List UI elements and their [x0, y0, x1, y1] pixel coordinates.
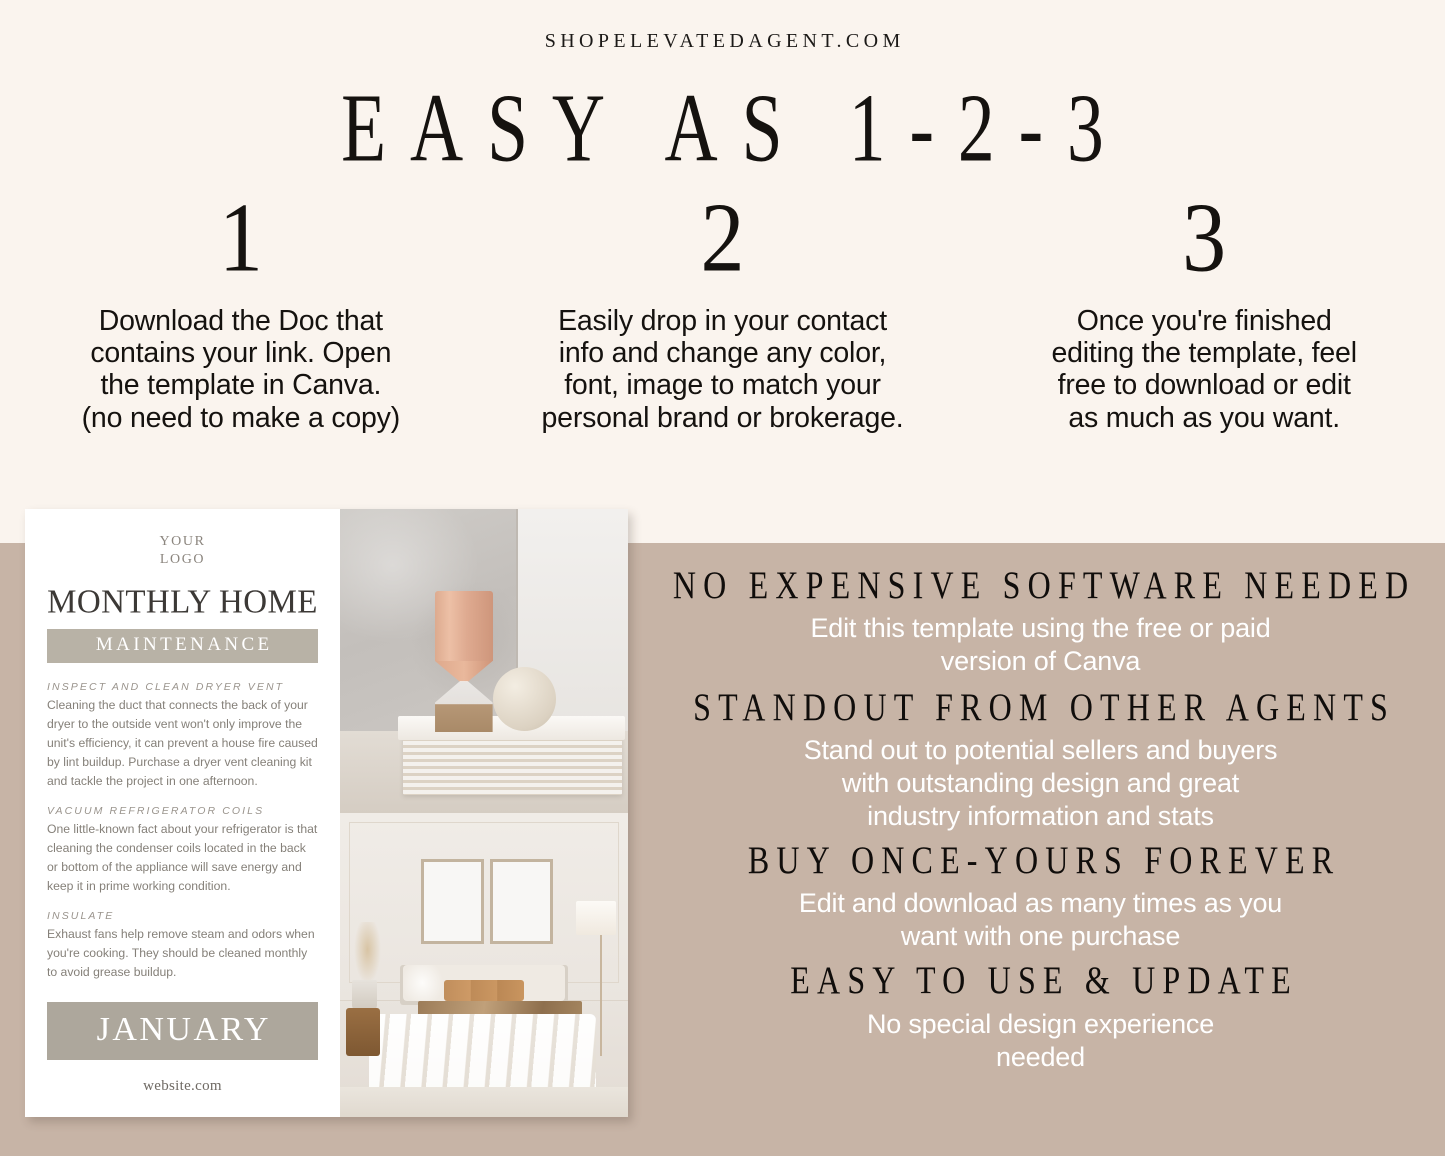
step-number-3: 3 — [1182, 190, 1226, 289]
step-text-3: Once you're finished editing the templat… — [985, 305, 1423, 434]
step-item-1: 1 Download the Doc that contains your li… — [0, 195, 482, 434]
steps-row: 1 Download the Doc that contains your li… — [0, 195, 1445, 434]
step-text-2: Easily drop in your contact info and cha… — [504, 305, 942, 434]
flyer-website: website.com — [47, 1060, 318, 1105]
step-item-3: 3 Once you're finished editing the templ… — [963, 195, 1445, 434]
feature-item-2: STANDOUT FROM OTHER AGENTS Stand out to … — [636, 688, 1445, 833]
step-number-1: 1 — [219, 190, 263, 289]
floor-lamp-shade — [576, 901, 616, 934]
feature-item-1: NO EXPENSIVE SOFTWARE NEEDED Edit this t… — [636, 566, 1445, 678]
features-list: NO EXPENSIVE SOFTWARE NEEDED Edit this t… — [636, 566, 1445, 1077]
step-item-2: 2 Easily drop in your contact info and c… — [482, 195, 964, 434]
area-rug — [340, 1087, 628, 1117]
wooden-side-stool — [346, 1008, 381, 1057]
step-number-2: 2 — [701, 190, 745, 289]
feature-heading-4: EASY TO USE & UPDATE — [648, 958, 1433, 1005]
photo-hourglass-still-life — [340, 509, 628, 813]
feature-body-2: Stand out to potential sellers and buyer… — [636, 734, 1445, 833]
flyer-preview-card: YOUR LOGO MONTHLY HOME MAINTENANCE INSPE… — [25, 509, 628, 1117]
stacked-books — [403, 734, 622, 795]
flyer-section-3: INSULATE Exhaust fans help remove steam … — [47, 910, 318, 982]
white-duvet — [369, 1014, 597, 1090]
flyer-section-1: INSPECT AND CLEAN DRYER VENT Cleaning th… — [47, 681, 318, 791]
poster-page: SHOPELEVATEDAGENT.COM EASY AS 1-2-3 1 Do… — [0, 0, 1445, 1156]
flyer-section-2: VACUUM REFRIGERATOR COILS One little-kno… — [47, 805, 318, 896]
glass-vase — [352, 980, 378, 1010]
feature-body-1: Edit this template using the free or pai… — [636, 612, 1445, 678]
flyer-section-title-3: INSULATE — [47, 910, 318, 922]
floor-lamp-pole — [600, 935, 602, 1057]
empty-picture-frame-right — [490, 859, 553, 944]
page-title: EASY AS 1-2-3 — [58, 74, 1387, 185]
feature-heading-3: BUY ONCE-YOURS FOREVER — [648, 838, 1433, 885]
empty-picture-frame-left — [421, 859, 484, 944]
tan-accent-pillows — [444, 980, 525, 1001]
feature-item-3: BUY ONCE-YOURS FOREVER Edit and download… — [636, 841, 1445, 953]
flyer-section-body-2: One little-known fact about your refrige… — [47, 820, 318, 896]
flyer-month-bar: JANUARY — [47, 1002, 318, 1060]
hourglass-icon — [435, 591, 493, 661]
flyer-title: MONTHLY HOME — [47, 585, 318, 619]
feature-body-3: Edit and download as many times as you w… — [636, 887, 1445, 953]
ceramic-ball — [493, 667, 556, 731]
flyer-section-title-1: INSPECT AND CLEAN DRYER VENT — [47, 681, 318, 693]
flyer-section-title-2: VACUUM REFRIGERATOR COILS — [47, 805, 318, 817]
flyer-photo-column — [340, 509, 628, 1117]
flyer-section-body-1: Cleaning the duct that connects the back… — [47, 696, 318, 791]
photo-bedroom-interior — [340, 813, 628, 1117]
feature-item-4: EASY TO USE & UPDATE No special design e… — [636, 961, 1445, 1073]
flyer-section-body-3: Exhaust fans help remove steam and odors… — [47, 925, 318, 982]
flyer-text-column: YOUR LOGO MONTHLY HOME MAINTENANCE INSPE… — [25, 509, 340, 1117]
flyer-subtitle-bar: MAINTENANCE — [47, 629, 318, 663]
feature-heading-2: STANDOUT FROM OTHER AGENTS — [648, 685, 1433, 732]
feature-body-4: No special design experience needed — [636, 1008, 1445, 1074]
site-url: SHOPELEVATEDAGENT.COM — [0, 30, 1445, 53]
flyer-logo-placeholder: YOUR LOGO — [47, 533, 318, 568]
feature-heading-1: NO EXPENSIVE SOFTWARE NEEDED — [648, 562, 1433, 609]
step-text-1: Download the Doc that contains your link… — [22, 305, 460, 434]
